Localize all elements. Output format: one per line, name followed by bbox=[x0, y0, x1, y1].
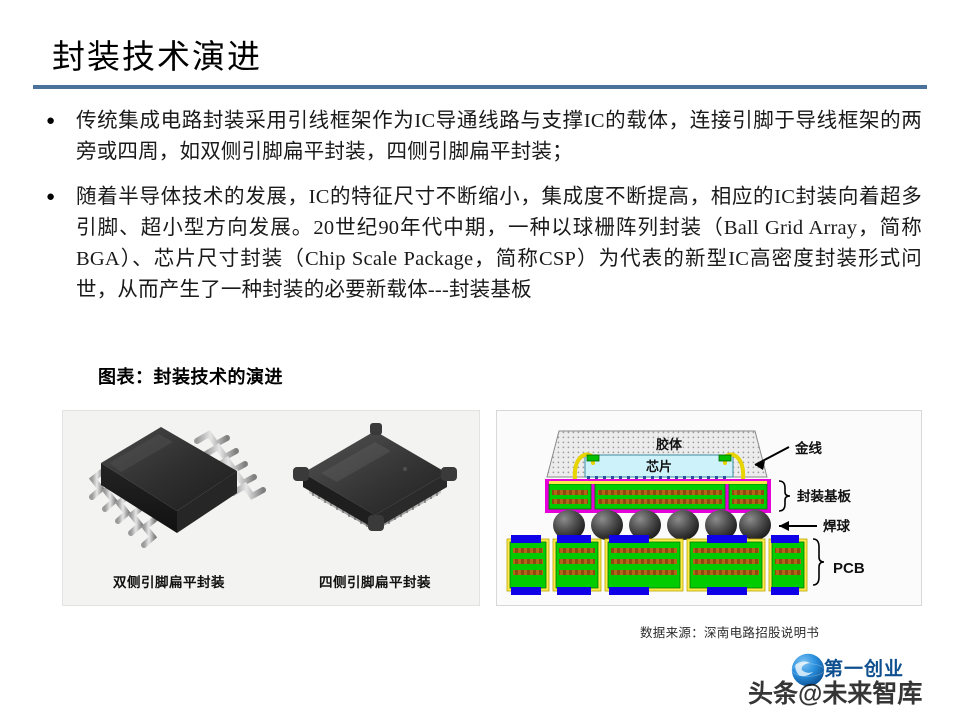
page-title: 封装技术演进 bbox=[52, 30, 262, 78]
package-sop: 双侧引脚扁平封装 bbox=[69, 411, 269, 607]
package-label: 四侧引脚扁平封装 bbox=[275, 571, 475, 591]
title-divider bbox=[33, 85, 927, 89]
pcb-stack bbox=[507, 535, 807, 595]
bullet-text: 随着半导体技术的发展，IC的特征尺寸不断缩小，集成度不断提高，相应的IC封装向着… bbox=[76, 182, 922, 306]
bullet-marker-icon: ● bbox=[42, 106, 76, 137]
package-photo-panel: 双侧引脚扁平封装 bbox=[62, 410, 480, 606]
figure-caption: 图表：封装技术的演进 bbox=[98, 363, 283, 389]
watermark-handle: 头条@未来智库 bbox=[748, 674, 922, 710]
diagram-label-solder-ball: 焊球 bbox=[823, 518, 851, 534]
qfp-chip-icon bbox=[275, 415, 475, 555]
list-item: ● 传统集成电路封装采用引线框架作为IC导通线路与支撑IC的载体，连接引脚于导线… bbox=[42, 106, 922, 168]
source-note: 数据来源：深南电路招股说明书 bbox=[640, 622, 819, 641]
slide-canvas: 封装技术演进 ● 传统集成电路封装采用引线框架作为IC导通线路与支撑IC的载体，… bbox=[0, 0, 960, 720]
figure-row: 双侧引脚扁平封装 bbox=[62, 410, 922, 610]
bullet-list: ● 传统集成电路封装采用引线框架作为IC导通线路与支撑IC的载体，连接引脚于导线… bbox=[42, 106, 922, 320]
package-qfp: 四侧引脚扁平封装 bbox=[275, 411, 475, 607]
diagram-label-molding: 胶体 bbox=[656, 437, 683, 452]
sop-chip-icon bbox=[69, 415, 269, 555]
list-item: ● 随着半导体技术的发展，IC的特征尺寸不断缩小，集成度不断提高，相应的IC封装… bbox=[42, 182, 922, 306]
diagram-label-substrate: 封装基板 bbox=[797, 488, 851, 504]
bullet-text: 传统集成电路封装采用引线框架作为IC导通线路与支撑IC的载体，连接引脚于导线框架… bbox=[76, 106, 922, 168]
watermark: 第一创业 头条@未来智库 bbox=[748, 652, 953, 714]
diagram-label-die: 芯片 bbox=[646, 459, 672, 474]
bga-cross-section-diagram: 胶体 芯片 bbox=[496, 410, 922, 606]
package-label: 双侧引脚扁平封装 bbox=[69, 571, 269, 591]
bullet-marker-icon: ● bbox=[42, 182, 76, 213]
diagram-label-pcb: PCB bbox=[833, 560, 865, 577]
diagram-label-gold-wire: 金线 bbox=[794, 440, 823, 456]
bga-diagram-svg: 胶体 芯片 bbox=[497, 411, 921, 605]
